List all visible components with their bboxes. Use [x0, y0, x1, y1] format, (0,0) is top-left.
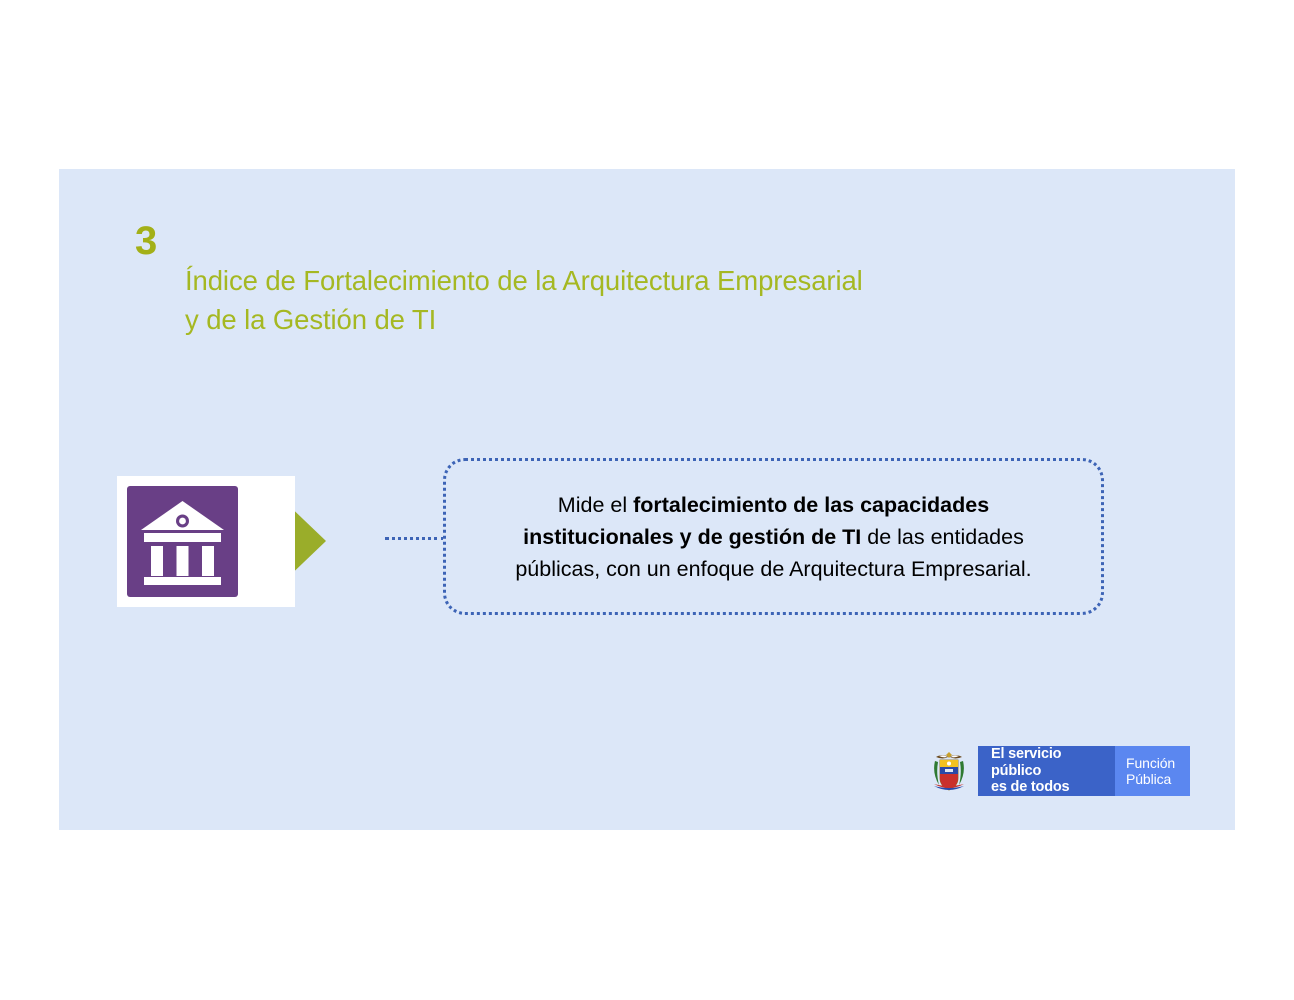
footer-logo: El servicio público es de todos Función … [930, 745, 1190, 797]
index-number: 3 [135, 221, 157, 261]
callout-text-normal: Mide el [558, 493, 633, 517]
institution-building-icon [138, 499, 227, 585]
callout-text: Mide el fortalecimiento de las capacidad… [446, 489, 1101, 585]
institution-tile [127, 486, 238, 597]
logo-slogan-text: El servicio público es de todos [991, 746, 1115, 796]
logo-slogan-block: El servicio público es de todos [978, 746, 1115, 796]
slide-canvas: 3 Índice de Fortalecimiento de la Arquit… [59, 169, 1235, 830]
logo-brand-block: Función Pública [1115, 746, 1190, 796]
dotted-connector-line [385, 537, 445, 543]
page-title-line-1: Índice de Fortalecimiento de la Arquitec… [185, 261, 1045, 300]
icon-chevron-group [117, 476, 407, 611]
colombia-coat-of-arms [930, 748, 968, 794]
logo-brand-text: Función Pública [1126, 755, 1175, 788]
callout-box: Mide el fortalecimiento de las capacidad… [443, 458, 1104, 615]
page-title-line-2: y de la Gestión de TI [185, 300, 1045, 339]
page-title: Índice de Fortalecimiento de la Arquitec… [185, 261, 1045, 339]
icon-card [117, 476, 295, 607]
